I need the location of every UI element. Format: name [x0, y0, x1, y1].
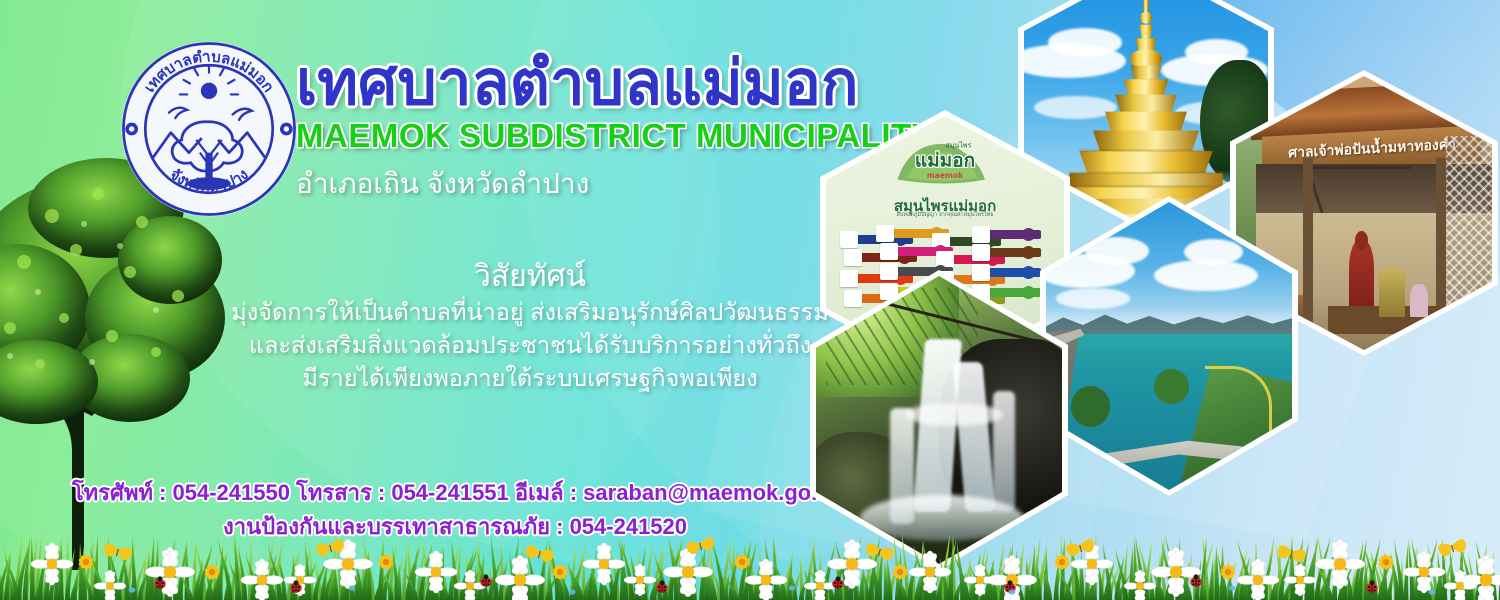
- vision-line-3: มีรายได้เพียงพอภายใต้ระบบเศรษฐกิจพอเพียง: [230, 362, 830, 395]
- vision-line-2: และส่งเสริมสิ่งแวดล้อมประชาชนได้รับบริกา…: [230, 329, 830, 362]
- vision-heading: วิสัยทัศน์: [230, 258, 830, 296]
- municipality-banner: เทศบาลตำบลแม่มอก จังหวัดลำปาง: [0, 0, 1500, 600]
- shrine-sign-text: ศาลเจ้าพ่อปันน้ำมหาทองคำ: [1288, 133, 1456, 164]
- svg-text:maemok: maemok: [927, 171, 964, 180]
- vision-statement: วิสัยทัศน์ มุ่งจัดการให้เป็นตำบลที่น่าอย…: [230, 258, 830, 396]
- vision-line-1: มุ่งจัดการให้เป็นตำบลที่น่าอยู่ ส่งเสริม…: [230, 296, 830, 329]
- svg-text:สมุนไพร: สมุนไพร: [945, 140, 971, 149]
- pagoda-caption-line3: อำเภ: [1232, 0, 1263, 9]
- municipal-seal-logo: เทศบาลตำบลแม่มอก จังหวัดลำปาง: [118, 38, 300, 220]
- contact-line-phone-fax-email: โทรศัพท์ : 054-241550 โทรสาร : 054-24155…: [60, 476, 850, 510]
- grass-flower-border: [0, 508, 1500, 600]
- svg-text:แม่มอก: แม่มอก: [915, 149, 975, 171]
- herb-poster-subtitle: สืบทอดภูมิปัญญา จากคุณค่าสมุนไพรไทย: [826, 211, 1064, 219]
